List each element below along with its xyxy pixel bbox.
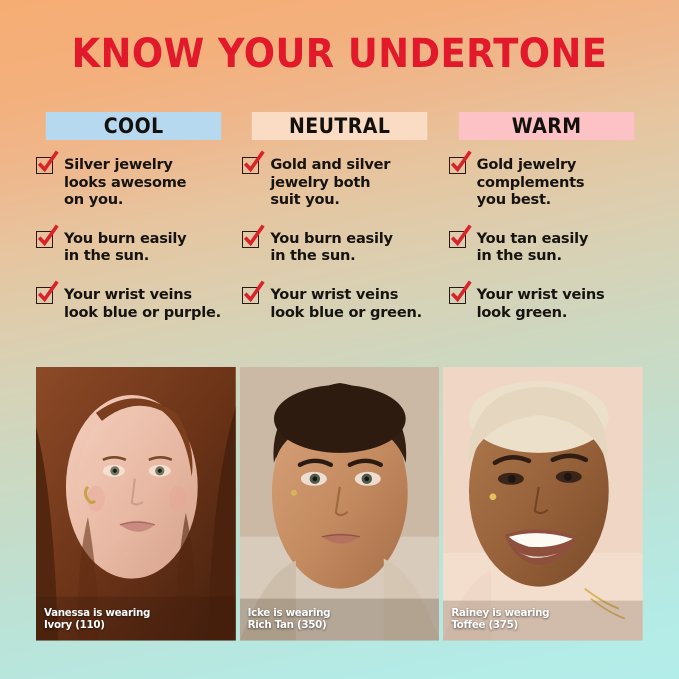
undertone-infographic: KNOW YOUR UNDERTONE COOL Silver jewelry … — [0, 0, 679, 679]
checklist-cool: Silver jewelry looks awesome on you. You… — [36, 156, 231, 321]
list-item-label: You tan easily in the sun. — [477, 230, 588, 265]
column-header-warm: WARM — [458, 112, 634, 140]
photo-caption: Icke is wearing Rich Tan (350) — [248, 608, 331, 632]
model-photo-strip: Vanessa is wearing Ivory (110) — [36, 367, 643, 641]
model-photo-neutral: Icke is wearing Rich Tan (350) — [240, 367, 440, 641]
photo-caption: Rainey is wearing Toffee (375) — [451, 608, 549, 632]
column-header-cool: COOL — [46, 112, 222, 140]
list-item[interactable]: Gold and silver jewelry both suit you. — [242, 156, 437, 209]
list-item-label: Your wrist veins look blue or purple. — [64, 286, 221, 321]
checkbox-checked-icon[interactable] — [36, 287, 55, 306]
checkbox-checked-icon[interactable] — [449, 287, 468, 306]
list-item-label: You burn easily in the sun. — [270, 230, 392, 265]
list-item-label: Silver jewelry looks awesome on you. — [64, 156, 186, 209]
model-photo-cool: Vanessa is wearing Ivory (110) — [36, 367, 236, 641]
checklist-neutral: Gold and silver jewelry both suit you. Y… — [242, 156, 437, 321]
checkbox-checked-icon[interactable] — [242, 231, 261, 250]
list-item-label: Gold and silver jewelry both suit you. — [270, 156, 390, 209]
column-header-neutral: NEUTRAL — [252, 112, 428, 140]
column-cool: COOL Silver jewelry looks awesome on you… — [36, 112, 231, 321]
checkbox-checked-icon[interactable] — [449, 157, 468, 176]
list-item[interactable]: Your wrist veins look blue or purple. — [36, 286, 231, 321]
checkbox-checked-icon[interactable] — [242, 287, 261, 306]
column-neutral: NEUTRAL Gold and silver jewelry both sui… — [242, 112, 437, 321]
checklist-warm: Gold jewelry complements you best. You t… — [449, 156, 644, 321]
list-item[interactable]: You burn easily in the sun. — [36, 230, 231, 265]
list-item-label: Gold jewelry complements you best. — [477, 156, 585, 209]
portrait-icke-image — [240, 367, 440, 641]
checkbox-checked-icon[interactable] — [36, 231, 55, 250]
list-item[interactable]: Silver jewelry looks awesome on you. — [36, 156, 231, 209]
list-item-label: Your wrist veins look green. — [477, 286, 605, 321]
page-title: KNOW YOUR UNDERTONE — [27, 32, 652, 76]
checkbox-checked-icon[interactable] — [242, 157, 261, 176]
portrait-rainey-image — [443, 367, 643, 641]
list-item[interactable]: Gold jewelry complements you best. — [449, 156, 644, 209]
list-item[interactable]: Your wrist veins look blue or green. — [242, 286, 437, 321]
undertone-columns: COOL Silver jewelry looks awesome on you… — [36, 112, 644, 321]
photo-caption: Vanessa is wearing Ivory (110) — [44, 608, 150, 632]
list-item-label: Your wrist veins look blue or green. — [270, 286, 422, 321]
portrait-vanessa-image — [36, 367, 236, 641]
column-warm: WARM Gold jewelry complements you best. … — [449, 112, 644, 321]
list-item[interactable]: Your wrist veins look green. — [449, 286, 644, 321]
model-photo-warm: Rainey is wearing Toffee (375) — [443, 367, 643, 641]
list-item[interactable]: You burn easily in the sun. — [242, 230, 437, 265]
list-item-label: You burn easily in the sun. — [64, 230, 186, 265]
checkbox-checked-icon[interactable] — [449, 231, 468, 250]
checkbox-checked-icon[interactable] — [36, 157, 55, 176]
list-item[interactable]: You tan easily in the sun. — [449, 230, 644, 265]
